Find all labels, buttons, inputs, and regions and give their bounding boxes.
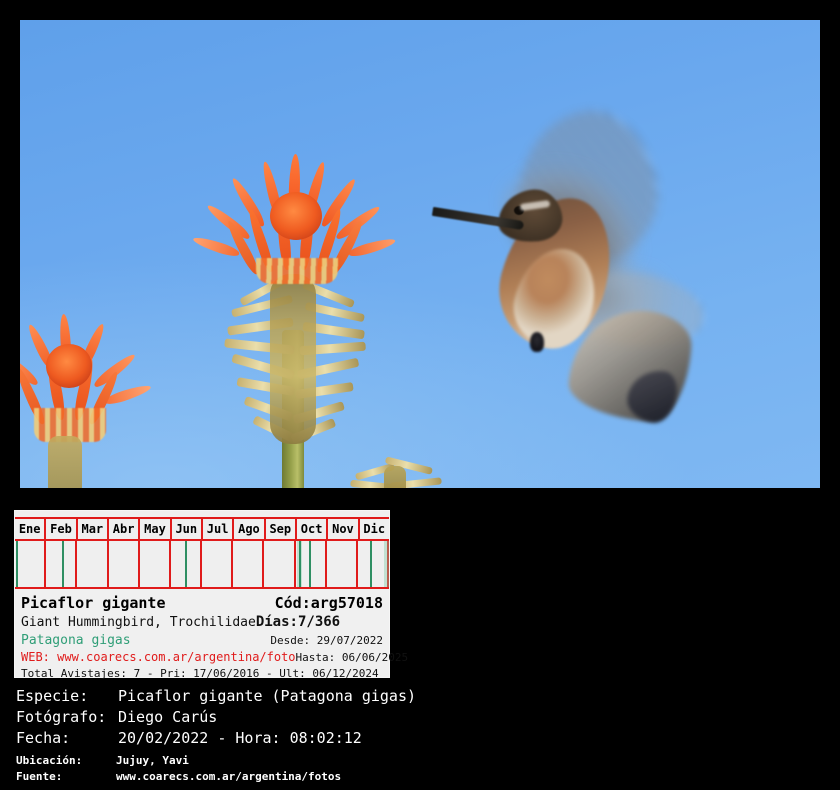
web-link[interactable]: WEB: www.coarecs.com.ar/argentina/foto [21,649,296,665]
aloe-spike-left [20,310,136,488]
dried-florets [226,268,368,443]
fecha-value: 20/02/2022 - Hora: 08:02:12 [118,728,362,749]
bird-feet [530,332,544,352]
calendar-cell-sep [264,541,295,587]
calendar-cell-jun [171,541,202,587]
month-header-oct: Oct [297,519,328,539]
scientific-name: Patagona gigas [21,632,131,649]
card-line-scientific: Patagona gigas Desde: 29/07/2022 [21,632,383,649]
days-count: Días:7/366 [256,613,340,631]
floret-tips [256,258,338,284]
calendar-cell-oct [296,541,327,587]
english-name: Giant Hummingbird, Trochilidae [21,614,256,632]
month-header-jun: Jun [172,519,203,539]
orange-floret-head [236,158,356,288]
meta-row-especie: Especie: Picaflor gigante (Patagona giga… [16,686,826,707]
month-header-ene: Ene [15,519,46,539]
left-floret-center [46,344,92,388]
floret-center [270,192,322,240]
meta-row-ubicacion: Ubicación: Jujuy, Yavi [16,753,826,769]
calendar-cell-abr [109,541,140,587]
month-calendar: Ene Feb Mar Abr May Jun Jul Ago Sep Oct … [15,517,389,589]
calendar-header-row: Ene Feb Mar Abr May Jun Jul Ago Sep Oct … [15,519,389,541]
card-line-english: Giant Hummingbird, Trochilidae Días:7/36… [21,613,383,632]
calendar-cell-nov [327,541,358,587]
card-line-name: Picaflor gigante Cód:arg57018 [21,593,383,613]
desde-date: Desde: 29/07/2022 [270,632,383,649]
month-header-mar: Mar [78,519,109,539]
month-header-dic: Dic [360,519,389,539]
meta-row-fuente: Fuente: www.coarecs.com.ar/argentina/fot… [16,769,826,785]
month-header-sep: Sep [266,519,297,539]
calendar-cell-ene [15,541,46,587]
aloe-spike-small [350,450,450,488]
small-dried-core [384,466,406,488]
fecha-label: Fecha: [16,728,118,749]
hummingbird [420,98,705,443]
ubicacion-value: Jujuy, Yavi [116,753,189,769]
fotografo-label: Fotógrafo: [16,707,118,728]
month-header-nov: Nov [328,519,359,539]
left-dried-core [48,436,82,488]
month-header-feb: Feb [46,519,77,539]
calendar-cells-row [15,541,389,587]
photo-metadata: Especie: Picaflor gigante (Patagona giga… [16,686,826,785]
calendar-cell-may [140,541,171,587]
card-line-totals: Total Avistajes: 7 - Pri: 17/06/2016 - U… [21,666,383,682]
dried-core [270,274,316,444]
calendar-cell-ago [233,541,264,587]
meta-row-fotografo: Fotógrafo: Diego Carús [16,707,826,728]
calendar-cell-dic [358,541,389,587]
month-header-ago: Ago [234,519,265,539]
species-photo [20,20,820,488]
month-header-jul: Jul [203,519,234,539]
especie-value: Picaflor gigante (Patagona gigas) [118,686,416,707]
species-info-card: Ene Feb Mar Abr May Jun Jul Ago Sep Oct … [14,510,390,678]
common-name: Picaflor gigante [21,593,166,613]
calendar-cell-mar [77,541,108,587]
calendar-cell-feb [46,541,77,587]
hasta-date: Hasta: 06/06/2025 [296,650,409,666]
especie-label: Especie: [16,686,118,707]
calendar-cell-jul [202,541,233,587]
card-line-web: WEB: www.coarecs.com.ar/argentina/foto H… [21,649,383,666]
month-header-abr: Abr [109,519,140,539]
meta-row-fecha: Fecha: 20/02/2022 - Hora: 08:02:12 [16,728,826,749]
fuente-label: Fuente: [16,769,116,785]
aloe-spike-main [230,150,360,488]
totals-text: Total Avistajes: 7 - Pri: 17/06/2016 - U… [21,666,379,682]
month-header-may: May [140,519,171,539]
ubicacion-label: Ubicación: [16,753,116,769]
species-code: Cód:arg57018 [275,593,383,613]
fotografo-value: Diego Carús [118,707,217,728]
screenshot-root: Ene Feb Mar Abr May Jun Jul Ago Sep Oct … [0,0,840,790]
fuente-value[interactable]: www.coarecs.com.ar/argentina/fotos [116,769,341,785]
card-text-block: Picaflor gigante Cód:arg57018 Giant Humm… [15,589,389,682]
